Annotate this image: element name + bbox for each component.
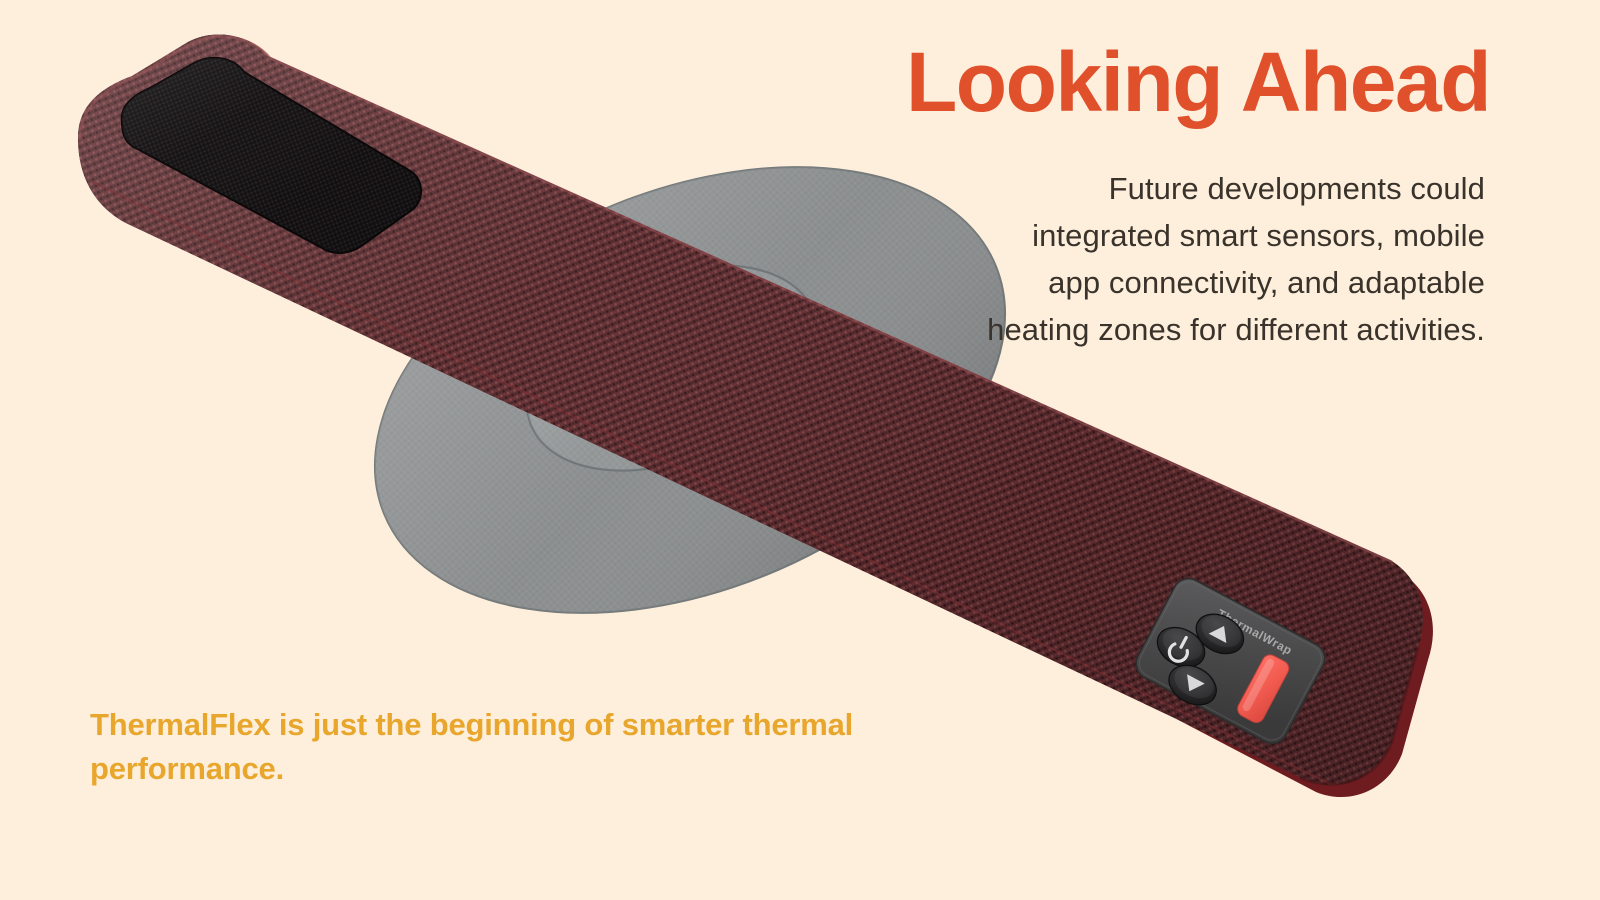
velcro-patch (122, 58, 421, 253)
panel-brand-label: ThermalWrap (1215, 606, 1295, 657)
heat-up-button (1189, 606, 1250, 661)
body-paragraph: Future developments could integrated sma… (985, 165, 1485, 353)
heating-zone-inner (497, 226, 848, 510)
tagline-text: ThermalFlex is just the beginning of sma… (90, 703, 920, 791)
heat-down-button (1162, 657, 1223, 712)
wrap-strap-overlay (78, 34, 1423, 785)
page-title: Looking Ahead (760, 38, 1490, 126)
strap-right-tip (1300, 648, 1418, 784)
control-panel: ThermalWrap (1129, 573, 1330, 751)
heating-pad-outer (309, 81, 1071, 699)
power-button (1151, 620, 1212, 675)
wrap-strap (78, 34, 1433, 797)
heat-level-indicator (1235, 652, 1292, 725)
slide-canvas: ThermalWrap (0, 0, 1600, 900)
